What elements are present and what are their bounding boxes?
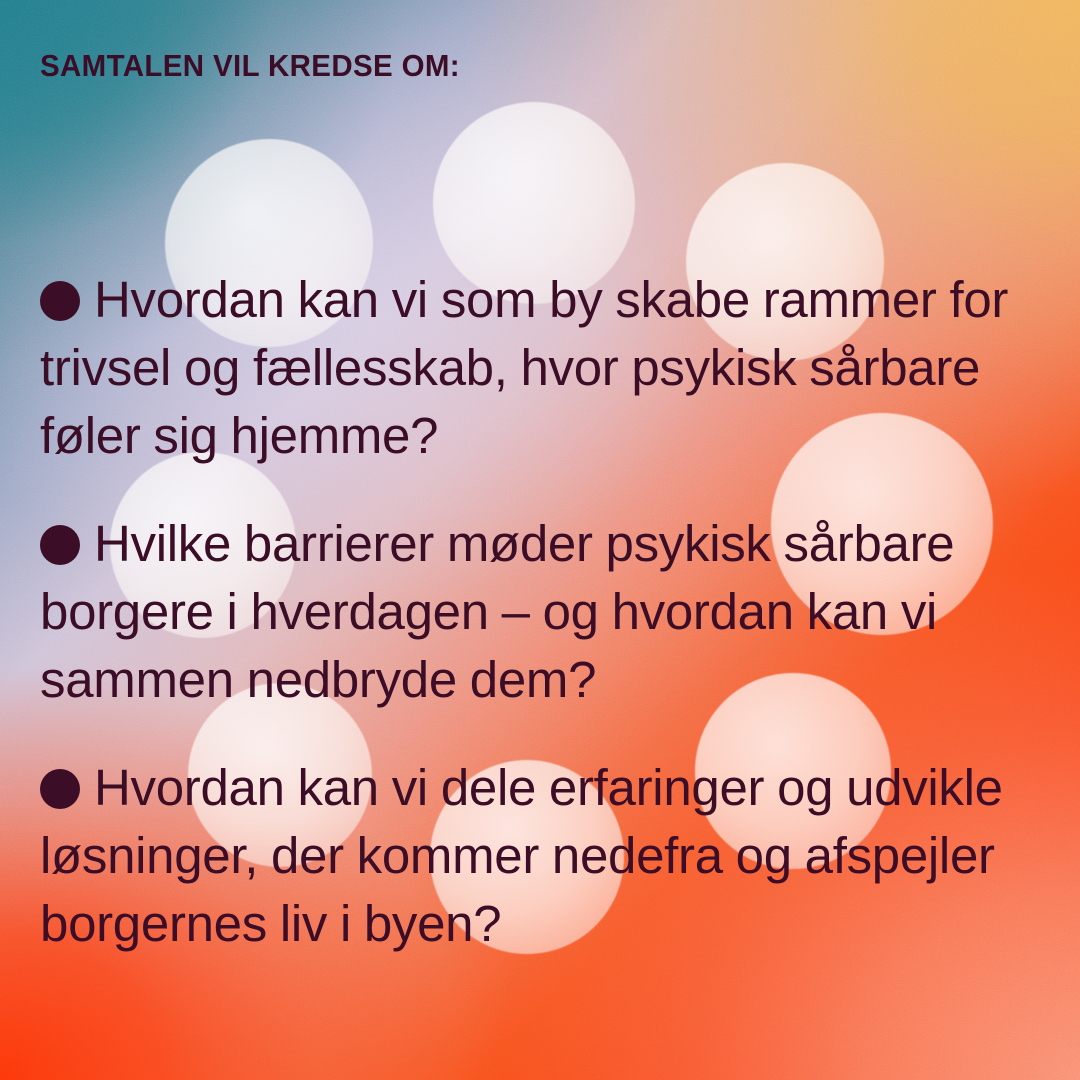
bullet-text-1: Hvordan kan vi som by skabe rammer for t… [40, 271, 1008, 464]
bullet-item-1: Hvordan kan vi som by skabe rammer for t… [40, 266, 1060, 470]
bullet-item-3: Hvordan kan vi dele erfaringer og udvikl… [40, 754, 1060, 958]
bullet-list: Hvordan kan vi som by skabe rammer for t… [40, 266, 1060, 998]
bullet-text-3: Hvordan kan vi dele erfaringer og udvikl… [40, 759, 1003, 952]
filled-circle-bullet-icon [40, 525, 80, 565]
eyebrow-heading: SAMTALEN VIL KREDSE OM: [40, 48, 460, 84]
filled-circle-bullet-icon [40, 281, 80, 321]
bullet-text-2: Hvilke barrierer møder psykisk sårbare b… [40, 515, 954, 708]
poster-canvas: SAMTALEN VIL KREDSE OM: Hvordan kan vi s… [0, 0, 1080, 1080]
poster-content: SAMTALEN VIL KREDSE OM: Hvordan kan vi s… [0, 0, 1080, 1080]
bullet-item-2: Hvilke barrierer møder psykisk sårbare b… [40, 510, 1060, 714]
filled-circle-bullet-icon [40, 769, 80, 809]
